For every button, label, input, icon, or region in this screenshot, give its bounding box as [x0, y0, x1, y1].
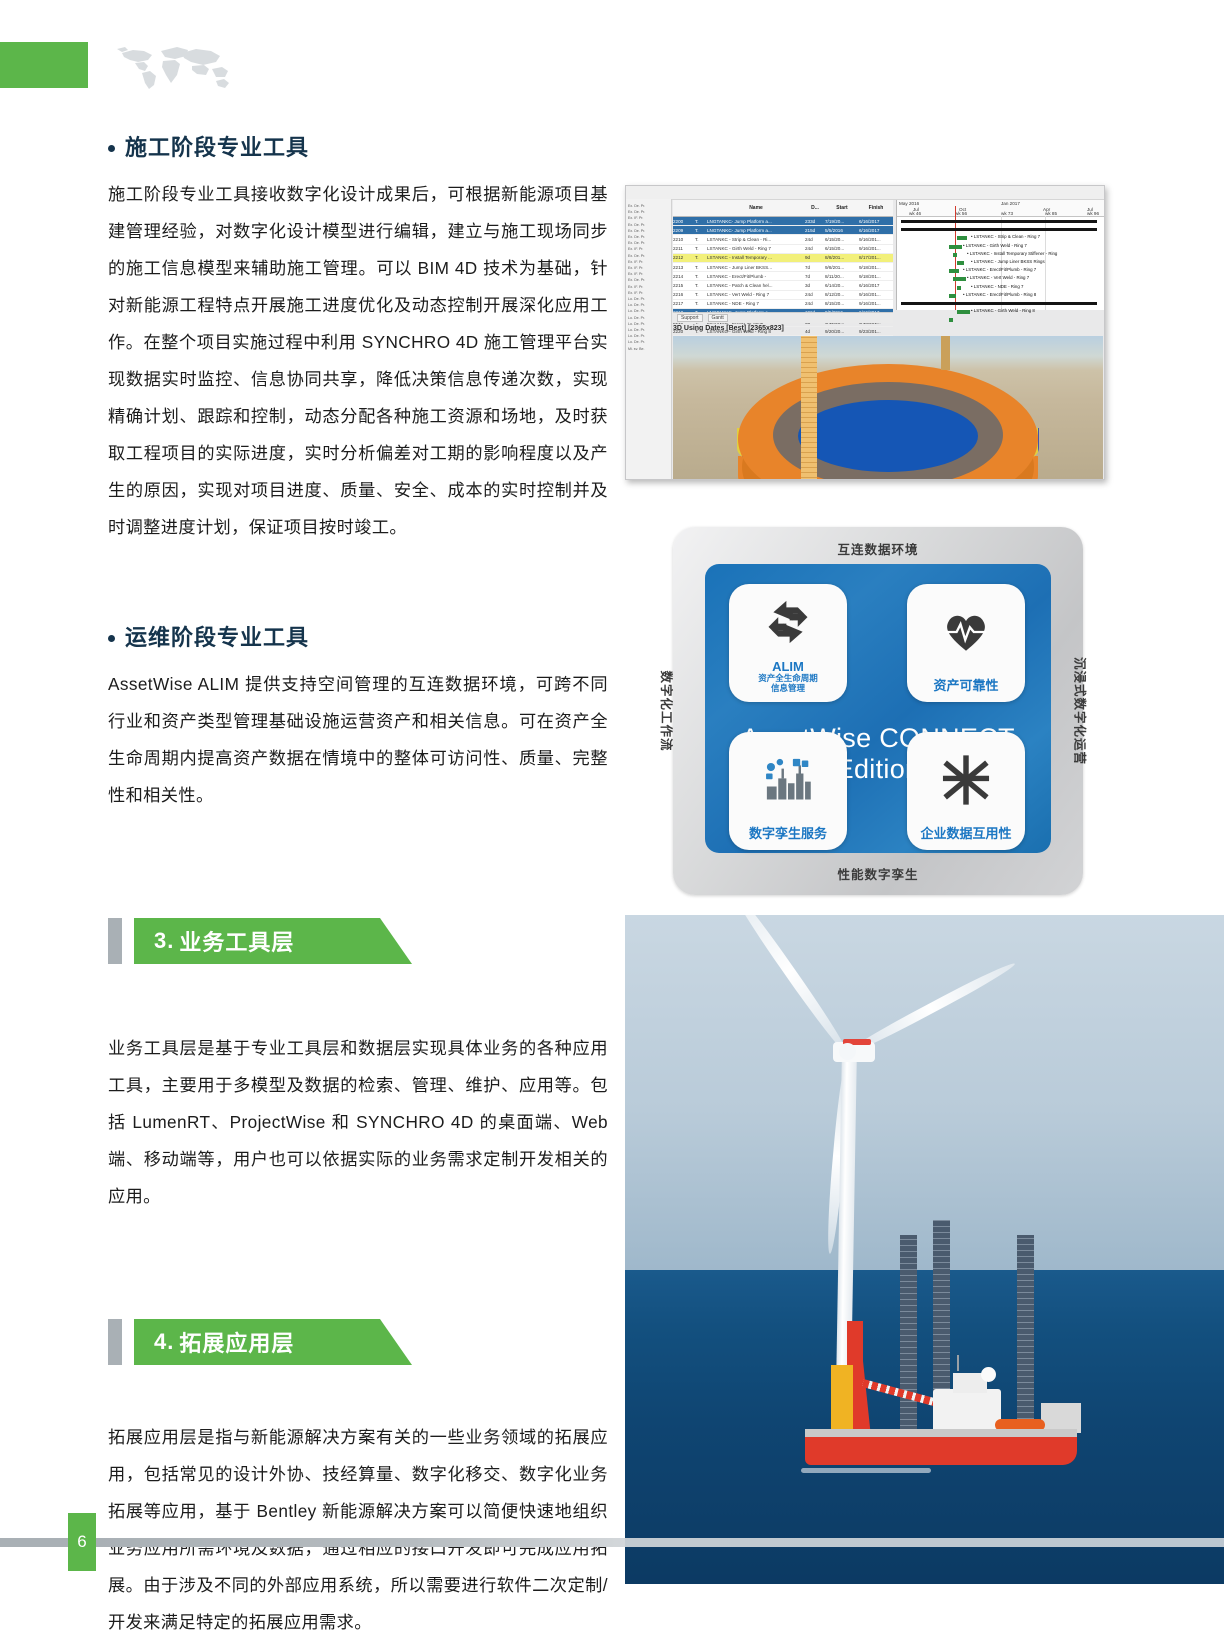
cell-start: 8/15/20...	[825, 301, 859, 306]
table-row[interactable]: 2212T.LSTANKC - Install Temporary ...9d8…	[673, 254, 893, 263]
table-row[interactable]: 2215T.LSTANKC - Patch & Clean hel...3d6/…	[673, 281, 893, 290]
paragraph-construction-tools: 施工阶段专业工具接收数字化设计成果后，可根据新能源项目基建管理经验，对数字化设计…	[108, 176, 608, 546]
crane-mast-secondary-icon	[941, 336, 950, 370]
cell-id: 2217	[673, 301, 695, 306]
gantt-task-label: • LSTANKC - Girth Weld - Ring 7	[963, 243, 1027, 248]
gantt-task-bar	[957, 236, 967, 240]
cell-name: LSTANKC - Jump Liner BKSS...	[707, 265, 805, 270]
cell-type: T.	[695, 283, 707, 288]
tab-gantt[interactable]: Gantt	[708, 314, 728, 322]
cell-name: LSTANKC - Erect/Fit/Plumb -	[707, 274, 805, 279]
section-heading-business-tool-layer: 3. 业务工具层	[108, 918, 608, 964]
cell-type: T.	[695, 274, 707, 279]
cell-id: 2200	[673, 219, 695, 224]
table-header-row: Name D... Start Finish	[673, 200, 893, 217]
timeline-label-1: Jan 2017	[1001, 201, 1020, 206]
tile-caption: ALIM 资产全生命周期 信息管理	[758, 660, 818, 693]
cell-duration: 215d	[805, 228, 825, 233]
cell-start: 7/19/20...	[825, 219, 859, 224]
diagram-blue-panel: AssetWise CONNECT Edition ALIM 资产全生命周期 信…	[705, 564, 1051, 853]
ribbon-banner: 3. 业务工具层	[134, 918, 380, 964]
jackup-leg	[900, 1235, 917, 1455]
cell-finish: 8/17/201...	[859, 255, 893, 260]
column-finish: Finish	[859, 205, 893, 211]
cell-start: 9/20/20...	[825, 329, 859, 334]
cell-duration: 3d	[805, 283, 825, 288]
table-row[interactable]: 2211T.LSTANKC - Girth Weld - Ring 724d6/…	[673, 245, 893, 254]
cell-start: 8/8/201...	[825, 255, 859, 260]
gantt-task-label: • LSTANKC - Install Temporary Stiffener …	[967, 251, 1057, 256]
week-label-4: wk 96	[1087, 211, 1099, 216]
cell-name: LNGTANKC- Jump Platform a...	[707, 228, 805, 233]
cell-type: T.	[695, 246, 707, 251]
industrial-plant-icon	[729, 732, 847, 827]
cell-finish: 9/23/201...	[859, 329, 893, 334]
cell-duration: 233d	[805, 219, 825, 224]
cell-duration: 24d	[805, 292, 825, 297]
diagram-label-top: 互连数据环境	[673, 539, 1083, 558]
photo-sky	[625, 915, 1224, 1270]
cell-id: 2214	[673, 274, 695, 279]
cell-duration: 4d	[805, 329, 825, 334]
gantt-task-bar	[957, 261, 964, 265]
table-row[interactable]: 2214T.LSTANKC - Erect/Fit/Plumb -7d8/11/…	[673, 272, 893, 281]
recycle-arrows-icon	[729, 584, 847, 660]
heading-text: 运维阶段专业工具	[125, 620, 309, 652]
cell-type: T.	[695, 228, 707, 233]
ribbon-number: 3.	[154, 928, 174, 954]
footer-rule-overlay	[625, 1538, 1224, 1547]
diagram-label-right: 沉浸式数字化运营	[1071, 657, 1090, 765]
tile-caption: 数字孪生服务	[749, 827, 827, 841]
table-row[interactable]: 2200T.LNGTANKC- Jump Platform a...233d7/…	[673, 217, 893, 226]
cell-type: T.	[695, 237, 707, 242]
tile-subtitle-line2: 信息管理	[758, 684, 818, 694]
heading-text: 施工阶段专业工具	[125, 130, 309, 162]
vessel-mast	[957, 1355, 959, 1371]
cell-finish: 6/16/2017	[859, 283, 893, 288]
cell-duration: 24d	[805, 301, 825, 306]
offshore-wind-turbine-installation-photo	[625, 915, 1224, 1584]
cell-name: LSTANKC - Patch & Clean hel...	[707, 283, 805, 288]
heart-pulse-icon	[907, 584, 1025, 679]
cell-finish: 6/16/2017	[859, 219, 893, 224]
viewport-caption: 3D Using Dates [Best] [2365x823]	[673, 325, 784, 332]
diagram-label-bottom: 性能数字孪生	[673, 864, 1083, 883]
tile-caption: 资产可靠性	[933, 679, 998, 693]
section-heading-extended-application-layer: 4. 拓展应用层	[108, 1319, 608, 1365]
crane-mast-icon	[801, 336, 817, 479]
bullet-dot-icon	[108, 635, 115, 642]
cell-duration: 24d	[805, 237, 825, 242]
column-duration: D...	[805, 205, 825, 211]
timeline-header: May 2016 Jan 2017 Jul Oct Apr Jul wk 46 …	[897, 200, 1105, 217]
gantt-task-bar	[953, 253, 957, 257]
main-text-column: 施工阶段专业工具 施工阶段专业工具接收数字化设计成果后，可根据新能源项目基建管理…	[108, 130, 608, 1641]
cell-name: LSTANKC - Vert Weld - Ring 7	[707, 292, 805, 297]
week-label-1: wk 56	[955, 211, 967, 216]
tile-title: ALIM	[772, 659, 804, 674]
cell-id: 2212	[673, 255, 695, 260]
diagram-tile-digital-twin-services[interactable]: 数字孪生服务	[729, 732, 847, 850]
header-green-bar	[0, 42, 88, 88]
ribbon-label: 拓展应用层	[179, 1326, 294, 1358]
cell-id: 2211	[673, 246, 695, 251]
cell-finish: 9/16/201...	[859, 246, 893, 251]
cell-type: T.	[695, 255, 707, 260]
vessel-hull	[805, 1437, 1077, 1465]
gantt-summary-bar	[901, 220, 1097, 223]
gantt-timeline-chart[interactable]: May 2016 Jan 2017 Jul Oct Apr Jul wk 46 …	[896, 200, 1105, 310]
synchro-4d-gantt-screenshot: Ex. De. Pr.Ex. De. Pr.Ex. IF. Pr.Ex. De.…	[625, 185, 1105, 480]
diagram-tile-alim[interactable]: ALIM 资产全生命周期 信息管理	[729, 584, 847, 702]
section-heading-construction-tools: 施工阶段专业工具	[108, 130, 608, 162]
gantt-task-bar	[957, 286, 961, 290]
table-row[interactable]: 2213T.LSTANKC - Jump Liner BKSS...7d9/8/…	[673, 263, 893, 272]
cell-name: LNGTANKC- Jump Platform a...	[707, 219, 805, 224]
gantt-task-bar	[949, 269, 959, 273]
bullet-dot-icon	[108, 145, 115, 152]
cell-duration: 7d	[805, 265, 825, 270]
ribbon-label: 业务工具层	[179, 925, 294, 957]
tile-caption: 企业数据互用性	[920, 827, 1011, 841]
cell-name: LSTANKC - NDE - Ring 7	[707, 301, 805, 306]
cell-duration: 9d	[805, 255, 825, 260]
assetwise-connect-edition-diagram: 互连数据环境 性能数字孪生 数字化工作流 沉浸式数字化运营 AssetWise …	[673, 527, 1083, 895]
paragraph-om-tools: AssetWise ALIM 提供支持空间管理的互连数据环境，可跨不同行业和资产…	[108, 666, 608, 814]
tank-floor-blue	[798, 400, 978, 472]
cell-finish: 9/18/201...	[859, 265, 893, 270]
cell-type: T.	[695, 301, 707, 306]
footer-rule-left	[0, 1538, 68, 1547]
vessel-wake	[801, 1468, 931, 1473]
gantt-task-bar	[949, 245, 962, 249]
footer-rule-right	[96, 1538, 625, 1547]
cell-duration: 24d	[805, 246, 825, 251]
gantt-task-table[interactable]: Name D... Start Finish 2200T.LNGTANKC- J…	[673, 200, 893, 310]
gantt-task-bar	[957, 310, 970, 314]
ribbon-tick-mark	[108, 918, 122, 964]
vessel-radar-dome	[981, 1367, 996, 1382]
screenshot-toolbar	[626, 186, 1104, 200]
table-row[interactable]: 2216T.LSTANKC - Vert Weld - Ring 724d8/1…	[673, 291, 893, 300]
cell-start: 6/15/20...	[825, 237, 859, 242]
ribbon-number: 4.	[154, 1329, 174, 1355]
cell-start: 8/12/20...	[825, 292, 859, 297]
diagram-tile-asset-reliability[interactable]: 资产可靠性	[907, 584, 1025, 702]
cell-id: 2215	[673, 283, 695, 288]
table-row[interactable]: 2217T.LSTANKC - NDE - Ring 724d8/15/20..…	[673, 300, 893, 309]
cell-start: 9/8/201...	[825, 265, 859, 270]
cell-type: T.	[695, 292, 707, 297]
gantt-summary-bar	[901, 302, 1097, 305]
column-start: Start	[825, 205, 859, 211]
cell-id: 2216	[673, 292, 695, 297]
cell-finish: 9/16/201...	[859, 292, 893, 297]
cell-id: 2209	[673, 228, 695, 233]
week-label-2: wk 73	[1001, 211, 1013, 216]
cell-id: 2213	[673, 265, 695, 270]
jackup-installation-vessel	[805, 1355, 1085, 1470]
gantt-summary-bar	[901, 228, 1097, 231]
gantt-task-label: • LSTANKC - Erect/Fit/Plumb - Ring 8	[963, 292, 1036, 297]
gantt-task-bar	[949, 318, 953, 322]
tab-support[interactable]: Support	[677, 314, 703, 322]
cell-name: LSTANKC - Install Temporary ...	[707, 255, 805, 260]
cell-finish: 9/18/201...	[859, 274, 893, 279]
cell-finish: 6/16/2017	[859, 228, 893, 233]
gantt-task-bar	[949, 294, 956, 298]
section-heading-om-tools: 运维阶段专业工具	[108, 620, 608, 652]
cell-finish: 9/16/201...	[859, 301, 893, 306]
figures-column: Ex. De. Pr.Ex. De. Pr.Ex. IF. Pr.Ex. De.…	[625, 0, 1224, 1584]
cell-name: LSTANKC - Girth Weld - Ring 7	[707, 246, 805, 251]
screenshot-tab-bar[interactable]: Support Gantt	[673, 312, 893, 323]
cell-id: 2210	[673, 237, 695, 242]
table-row[interactable]: 2210T.LSTANKC - Strip & Clean - Ri...24d…	[673, 235, 893, 244]
screenshot-side-panel: Ex. De. Pr.Ex. De. Pr.Ex. IF. Pr.Ex. De.…	[626, 199, 672, 479]
data-converge-icon	[907, 732, 1025, 827]
paragraph-extended-application-layer: 拓展应用层是指与新能源解决方案有关的一些业务领域的拓展应用，包括常见的设计外协、…	[108, 1419, 608, 1641]
paragraph-business-tool-layer: 业务工具层是基于专业工具层和数据层实现具体业务的各种应用工具，主要用于多模型及数…	[108, 1030, 608, 1215]
gantt-task-label: • LSTANKC - Strip & Clean - Ring 7	[971, 234, 1040, 239]
gantt-task-label: • LSTANKC - Vert Weld - Ring 7	[967, 275, 1029, 280]
world-map-icon	[113, 40, 233, 92]
week-label-0: wk 46	[909, 211, 921, 216]
3d-model-viewport[interactable]	[673, 336, 1103, 479]
cell-start: 8/11/20...	[825, 274, 859, 279]
week-label-3: wk 85	[1045, 211, 1057, 216]
cell-name: LSTANKC - Strip & Clean - Ri...	[707, 237, 805, 242]
cell-start: 6/14/20...	[825, 283, 859, 288]
table-row[interactable]: 2209T.LNGTANKC- Jump Platform a...215d5/…	[673, 226, 893, 235]
cell-finish: 9/16/201...	[859, 237, 893, 242]
ribbon-tick-mark	[108, 1319, 122, 1365]
column-name: Name	[707, 205, 805, 211]
ribbon-banner: 4. 拓展应用层	[134, 1319, 380, 1365]
gantt-task-label: • LSTANKC - NDE - Ring 7	[971, 284, 1023, 289]
cell-start: 5/5/2016	[825, 228, 859, 233]
cell-type: T.	[695, 265, 707, 270]
cell-start: 6/15/20...	[825, 246, 859, 251]
page-number-badge: 6	[68, 1513, 96, 1571]
gantt-task-label: • LSTANKC - Girth Weld - Ring 8	[971, 308, 1035, 313]
turbine-hub	[839, 1043, 856, 1060]
cell-duration: 7d	[805, 274, 825, 279]
diagram-tile-enterprise-interoperability[interactable]: 企业数据互用性	[907, 732, 1025, 850]
diagram-label-left: 数字化工作流	[658, 670, 677, 751]
gantt-task-label: • LSTANKC - Jump Liner BKSS Rings	[971, 259, 1045, 264]
gantt-task-label: • LSTANKC - Erect/Fit/Plumb - Ring 7	[963, 267, 1036, 272]
timeline-label-0: May 2016	[899, 201, 919, 206]
cell-type: T.	[695, 219, 707, 224]
gantt-task-bar	[953, 277, 966, 281]
